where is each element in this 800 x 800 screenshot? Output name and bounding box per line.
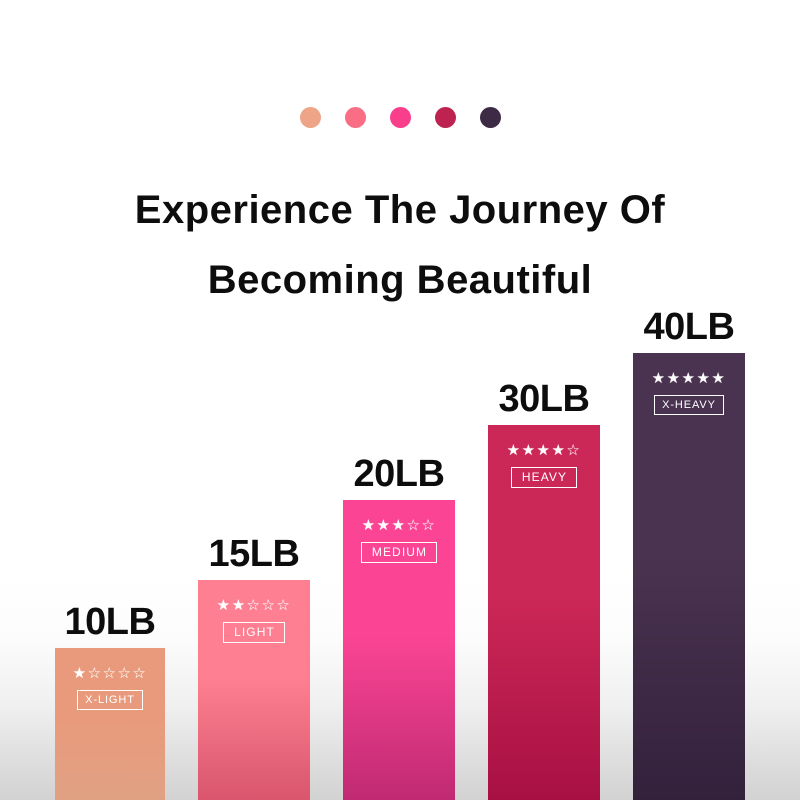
star-rating-icon: ★★★★★	[652, 371, 727, 386]
bar-group[interactable]: 30LB★★★★☆HEAVY	[488, 425, 600, 800]
resistance-level-badge: X-LIGHT	[77, 690, 143, 710]
bar-rect: ★★★★☆HEAVY	[488, 425, 600, 800]
star-rating-icon: ★★☆☆☆	[217, 598, 292, 613]
bar-value-label: 20LB	[354, 453, 445, 496]
bar-rect: ★★★☆☆MEDIUM	[343, 500, 455, 800]
bar-rect: ★★☆☆☆LIGHT	[198, 580, 310, 800]
star-rating-icon: ★★★★☆	[507, 443, 582, 458]
bar-value-label: 15LB	[209, 533, 300, 576]
resistance-level-badge: MEDIUM	[361, 542, 437, 563]
bar-group[interactable]: 10LB★☆☆☆☆X-LIGHT	[55, 648, 165, 800]
bar-group[interactable]: 15LB★★☆☆☆LIGHT	[198, 580, 310, 800]
bar-rect: ★☆☆☆☆X-LIGHT	[55, 648, 165, 800]
bar-rect: ★★★★★X-HEAVY	[633, 353, 745, 800]
bar-group[interactable]: 40LB★★★★★X-HEAVY	[633, 353, 745, 800]
bar-group[interactable]: 20LB★★★☆☆MEDIUM	[343, 500, 455, 800]
bar-value-label: 30LB	[499, 378, 590, 421]
bar-value-label: 10LB	[65, 601, 156, 644]
star-rating-icon: ★★★☆☆	[362, 518, 437, 533]
bar-value-label: 40LB	[644, 306, 735, 349]
resistance-level-badge: LIGHT	[223, 622, 285, 643]
star-rating-icon: ★☆☆☆☆	[73, 666, 148, 681]
product-infographic-poster: Experience The Journey Of Becoming Beaut…	[0, 0, 800, 800]
resistance-level-bar-chart: 10LB★☆☆☆☆X-LIGHT15LB★★☆☆☆LIGHT20LB★★★☆☆M…	[0, 0, 800, 800]
resistance-level-badge: X-HEAVY	[654, 395, 724, 415]
resistance-level-badge: HEAVY	[511, 467, 577, 488]
